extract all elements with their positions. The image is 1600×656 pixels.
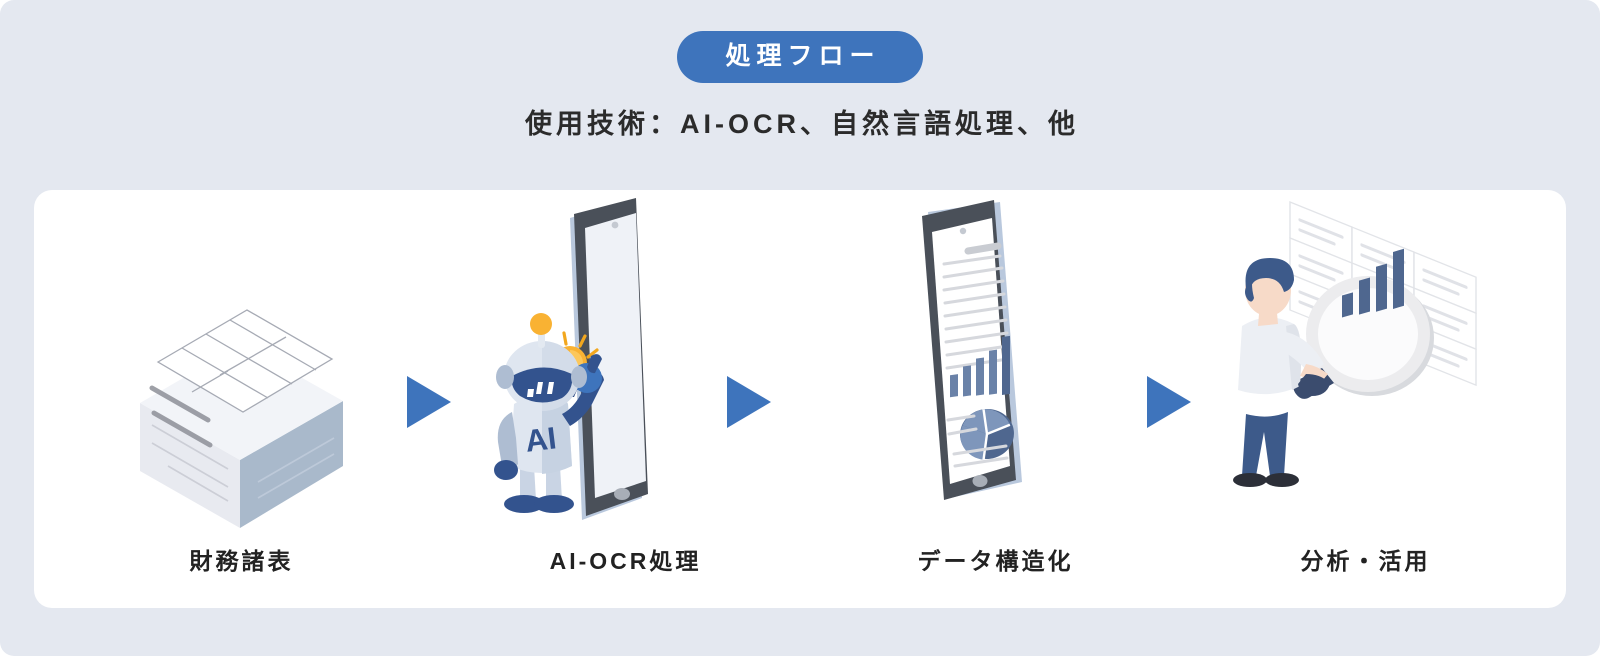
flow-diagram: 財務諸表: [34, 190, 1566, 608]
arrow-step2-to-step3: [725, 375, 773, 429]
flow-step-2-label: AI-OCR処理: [454, 542, 794, 576]
svg-text:AI: AI: [523, 420, 558, 459]
flow-step-3-label: データ構造化: [824, 542, 1164, 576]
flow-step-1: 財務諸表: [70, 190, 410, 608]
flow-step-4-label: 分析・活用: [1194, 542, 1534, 576]
flow-step-3: データ構造化: [824, 190, 1164, 608]
section-badge: 処理フロー: [677, 31, 922, 83]
flow-card: 財務諸表: [34, 190, 1566, 608]
page-subtitle: 使用技術：AI-OCR、自然言語処理、他: [0, 106, 1600, 144]
flow-step-4: 分析・活用: [1194, 190, 1534, 608]
document-stack-icon: [70, 198, 410, 528]
arrow-step1-to-step2: [405, 375, 453, 429]
badge-container: 処理フロー: [0, 31, 1600, 83]
ai-robot-tablet-icon: AI: [454, 198, 794, 528]
arrow-step3-to-step4: [1145, 375, 1193, 429]
flow-panel: 処理フロー 使用技術：AI-OCR、自然言語処理、他: [0, 0, 1600, 656]
tablet-report-icon: [824, 198, 1164, 528]
person-magnifier-table-icon: [1194, 198, 1534, 528]
flow-step-1-label: 財務諸表: [70, 542, 410, 576]
